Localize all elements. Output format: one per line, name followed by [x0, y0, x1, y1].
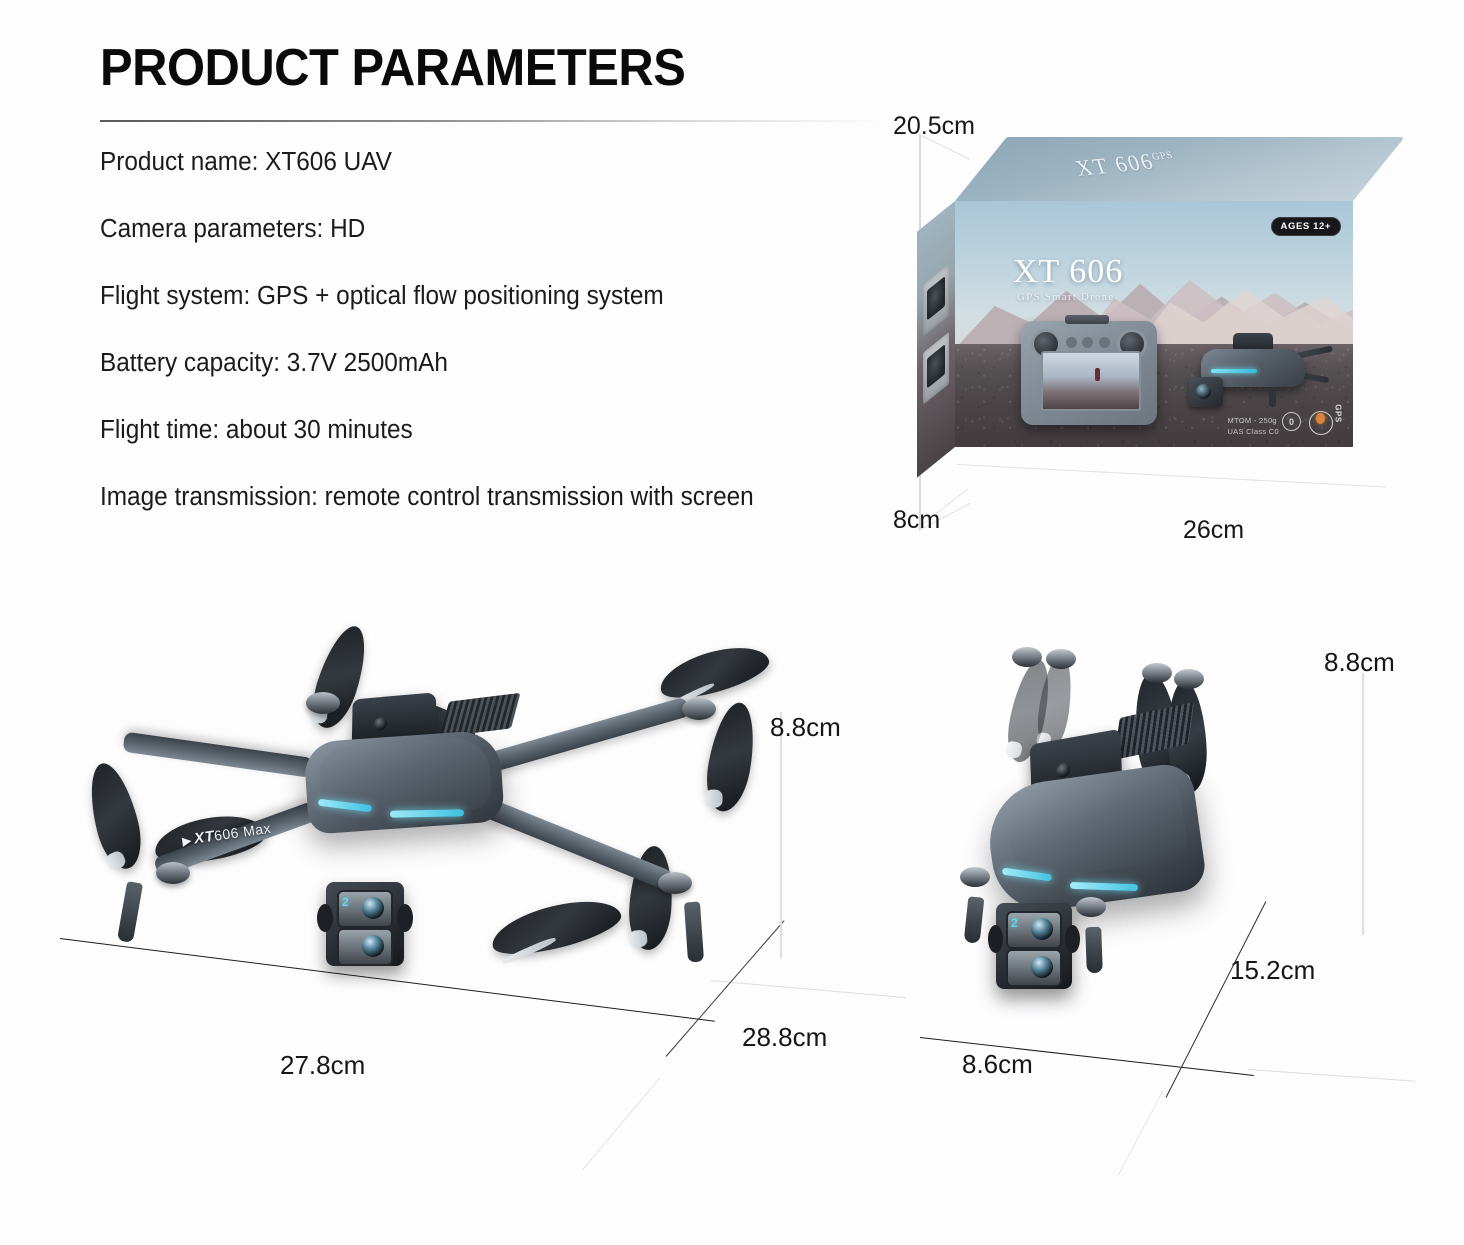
folded-motor-mount-6: [1076, 897, 1106, 917]
rc-screen: [1041, 351, 1141, 411]
mtom-label: MTOM - 250g: [1227, 415, 1279, 426]
box-top-gps-sup: GPS: [1150, 150, 1175, 163]
class-c0-badge: 0: [1282, 412, 1301, 431]
propeller-front-right-a: [655, 637, 774, 706]
unfolded-depth-label: 28.8cm: [742, 1022, 827, 1053]
landing-leg-left: [117, 881, 143, 943]
folded-camera-lens-label: 2: [1011, 916, 1018, 930]
arm-brand-prefix: XT: [193, 828, 215, 848]
folded-height-label: 8.8cm: [1324, 647, 1395, 678]
rc-knob-2: [1082, 337, 1093, 348]
box-front-face: XT 606 GPS Smart Drone AGES 12+: [955, 201, 1353, 447]
folded-motor-mount-3: [1142, 663, 1172, 683]
propeller-rear-right-a: [487, 891, 625, 964]
folded-camera-lens-lower: [1006, 949, 1062, 987]
box-side-thumbnail-2: [923, 332, 949, 405]
folded-width-guide-ext: [1248, 1069, 1416, 1082]
folded-depth-guide-ext: [1118, 1091, 1164, 1176]
folded-gimbal-hinge-right: [1065, 925, 1080, 953]
gps-badge: GPS: [1305, 407, 1345, 437]
folded-drone-diagram: 2 8.8cm 15.2cm 8.6cm: [930, 645, 1330, 1085]
box-top-face: [955, 137, 1405, 201]
uas-class-label: UAS Class C0: [1227, 426, 1279, 437]
artwork-drone-leg-2: [1269, 387, 1276, 407]
remote-controller-artwork: [1021, 321, 1157, 425]
artwork-drone-led: [1211, 369, 1257, 373]
unfolded-depth-guide-ext: [582, 1078, 660, 1171]
box-depth-label: 8cm: [893, 506, 940, 535]
folded-landing-leg-right: [1085, 927, 1103, 974]
gps-pin-icon: [1316, 413, 1325, 424]
unfolded-width-guide-ext: [710, 980, 905, 998]
motor-hub-front-left: [306, 692, 340, 714]
landing-leg-right: [684, 902, 704, 963]
ages-badge: AGES 12+: [1271, 217, 1341, 236]
camera-lens-lower: [337, 928, 393, 966]
motor-hub-rear-right: [658, 872, 692, 894]
specification-block: PRODUCT PARAMETERS Product name: XT606 U…: [100, 42, 890, 550]
drone-cooling-vents: [440, 693, 521, 737]
drone-artwork: [1183, 305, 1333, 413]
folded-motor-mount-1: [1012, 647, 1042, 667]
propeller-rear-left-a: [82, 759, 149, 874]
gps-badge-label: GPS: [1333, 404, 1342, 422]
unfolded-height-guide: [780, 712, 782, 958]
box-side-thumbnail-1: [923, 264, 949, 337]
folded-depth-label: 15.2cm: [1230, 955, 1315, 986]
arm-brand-triangle-icon: ▶: [182, 835, 193, 848]
folded-motor-mount-2: [1046, 649, 1076, 669]
motor-hub-rear-left: [156, 862, 190, 884]
spec-item-image-transmission: Image transmission: remote control trans…: [100, 483, 854, 511]
regulatory-text: MTOM - 250g UAS Class C0: [1227, 415, 1279, 438]
box-front-subtitle: GPS Smart Drone: [1017, 291, 1114, 303]
package-box-diagram: 20.5cm 8cm 26cm XT 606GPS: [893, 112, 1453, 562]
spec-item-product-name: Product name: XT606 UAV: [100, 148, 854, 176]
spec-item-flight-system: Flight system: GPS + optical flow positi…: [100, 282, 854, 310]
box-width-label: 26cm: [1183, 516, 1244, 545]
rc-knob-3: [1099, 337, 1110, 348]
box-front-title: XT 606: [1013, 255, 1123, 289]
gimbal-camera-module: 2: [326, 882, 404, 966]
folded-motor-mount-4: [1174, 669, 1204, 689]
unfolded-height-label: 8.8cm: [770, 712, 841, 743]
box-side-panel: [917, 201, 955, 478]
title-divider: [100, 120, 888, 122]
rc-antenna-bar: [1065, 315, 1109, 324]
drone-arm-rear-right: [484, 799, 673, 891]
unfolded-drone-diagram: ▶XT606 Max 2 8.8cm 28.8cm 27.8cm: [70, 650, 790, 1070]
folded-height-guide: [1362, 673, 1364, 935]
specification-list: Product name: XT606 UAV Camera parameter…: [100, 148, 890, 511]
gimbal-hinge-right: [397, 904, 413, 932]
motor-hub-front-right: [682, 698, 716, 720]
rc-knob-1: [1066, 337, 1077, 348]
box-width-guide: [957, 464, 1386, 488]
artwork-drone-camera: [1189, 377, 1223, 407]
camera-lens-label: 2: [342, 895, 349, 909]
retail-box: XT 606GPS XT 606 GPS Smart Drone AGES 12…: [955, 137, 1385, 457]
folded-motor-mount-5: [960, 867, 990, 887]
page-title: PRODUCT PARAMETERS: [100, 42, 843, 94]
spec-item-battery-capacity: Battery capacity: 3.7V 2500mAh: [100, 349, 854, 377]
folded-width-label: 8.6cm: [962, 1049, 1033, 1080]
unfolded-width-label: 27.8cm: [280, 1050, 365, 1081]
folded-landing-leg-left: [964, 896, 985, 943]
drone-arm-front-left: [122, 732, 313, 778]
drone-led-strip-right: [390, 809, 464, 817]
folded-gimbal-hinge-left: [988, 925, 1003, 953]
gimbal-hinge-left: [317, 904, 333, 932]
product-parameters-page: PRODUCT PARAMETERS Product name: XT606 U…: [0, 0, 1464, 1245]
spec-item-camera-parameters: Camera parameters: HD: [100, 215, 854, 243]
folded-gimbal-camera-module: 2: [996, 903, 1072, 989]
spec-item-flight-time: Flight time: about 30 minutes: [100, 416, 854, 444]
